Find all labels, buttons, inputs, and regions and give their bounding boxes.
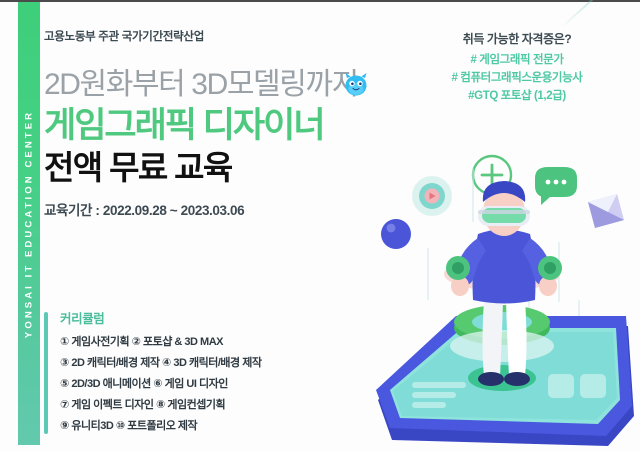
play-circle-icon	[412, 176, 452, 216]
monster-mascot-icon	[342, 72, 370, 98]
platform-disc	[450, 330, 554, 362]
promo-banner: YONSAI IT EDUCATION CENTER 고용노동부 주관 국가기간…	[0, 0, 640, 454]
curriculum-row: ① 게임사전기획 ② 포토샵 & 3D MAX	[60, 332, 344, 353]
headline-subtitle: 2D원화부터 3D모델링까지	[44, 70, 358, 100]
curriculum-row: ⑨ 유니티3D ⑩ 포트폴리오 제작	[60, 416, 344, 437]
brand-sidebar: YONSAI IT EDUCATION CENTER	[18, 2, 40, 445]
vr-illustration	[372, 150, 640, 454]
curriculum-accent-bar	[44, 312, 48, 434]
headline-primary: 게임그래픽 디자이너	[44, 108, 324, 143]
curriculum-row: ⑦ 게임 이펙트 디자인 ⑧ 게임컨셉기획	[60, 395, 344, 416]
chat-bubble-icon	[535, 167, 577, 205]
brand-sidebar-label: YONSAI IT EDUCATION CENTER	[24, 109, 35, 337]
curriculum-title: 커리큘럼	[60, 308, 344, 327]
vr-headset-icon	[478, 206, 530, 226]
curriculum-row: ⑤ 2D/3D 애니메이션 ⑥ 게임 UI 디자인	[60, 374, 344, 395]
vr-controller-left	[446, 256, 470, 280]
period-line: 교육기간 : 2022.09.28 ~ 2023.03.06	[44, 199, 244, 219]
agency-line: 고용노동부 주관 국가기간전략산업	[44, 28, 204, 44]
curriculum-block: 커리큘럼 ① 게임사전기획 ② 포토샵 & 3D MAX ③ 2D 캐릭터/배경…	[44, 308, 344, 438]
certificates-question: 취득 가능한 자격증은?	[422, 30, 612, 47]
certificate-tag: #GTQ 포토샵 (1,2급)	[422, 88, 612, 106]
envelope-icon	[588, 194, 624, 228]
certificate-tag: # 게임그래픽 전문가	[422, 52, 612, 70]
vr-controller-right	[538, 256, 562, 280]
top-rule	[0, 0, 640, 2]
headline-secondary: 전액 무료 교육	[44, 151, 232, 184]
sphere-icon	[381, 219, 411, 249]
curriculum-row: ③ 2D 캐릭터/배경 제작 ④ 3D 캐릭터/배경 제작	[60, 353, 344, 374]
certificate-tag: # 컴퓨터그래픽스운용기능사	[422, 70, 612, 88]
certificates-block: 취득 가능한 자격증은? # 게임그래픽 전문가 # 컴퓨터그래픽스운용기능사 …	[422, 30, 612, 105]
